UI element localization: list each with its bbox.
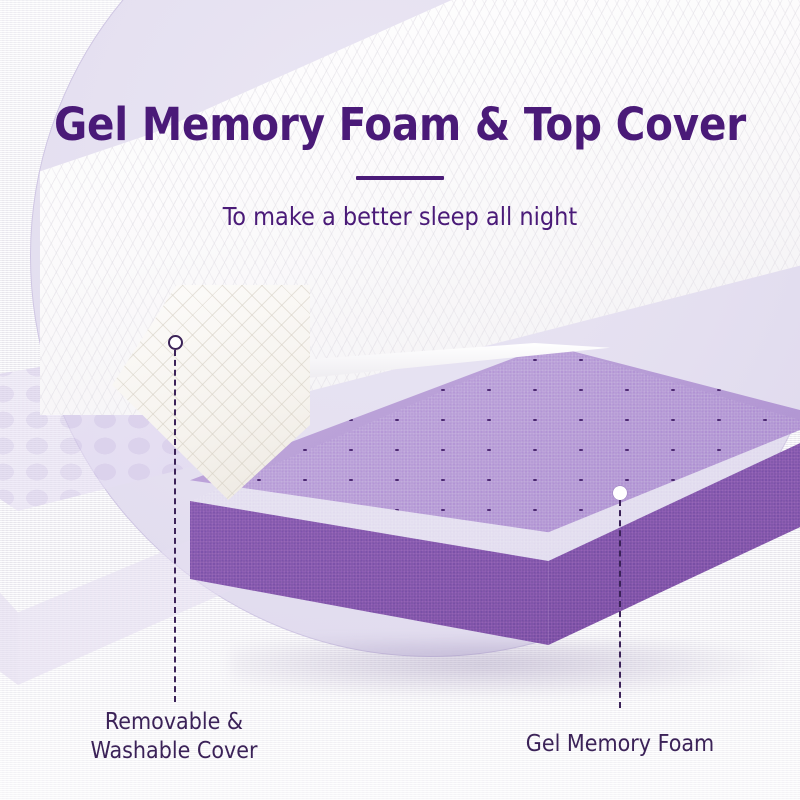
solid-dot-marker[interactable] <box>613 486 627 500</box>
mattress-illustration <box>40 225 800 645</box>
foam-drop-shadow <box>230 640 790 700</box>
dashed-leader-line-right <box>619 500 621 708</box>
callout-label-foam: Gel Memory Foam <box>489 730 751 759</box>
callout-label-cover: Removable & Washable Cover <box>44 708 304 767</box>
page-title: Gel Memory Foam & Top Cover <box>0 98 800 151</box>
dashed-leader-line-left <box>174 350 176 702</box>
infographic-canvas: Gel Memory Foam & Top Cover To make a be… <box>0 0 800 800</box>
hollow-circle-marker[interactable] <box>168 335 183 350</box>
title-divider <box>356 176 444 180</box>
page-subtitle: To make a better sleep all night <box>0 202 800 231</box>
